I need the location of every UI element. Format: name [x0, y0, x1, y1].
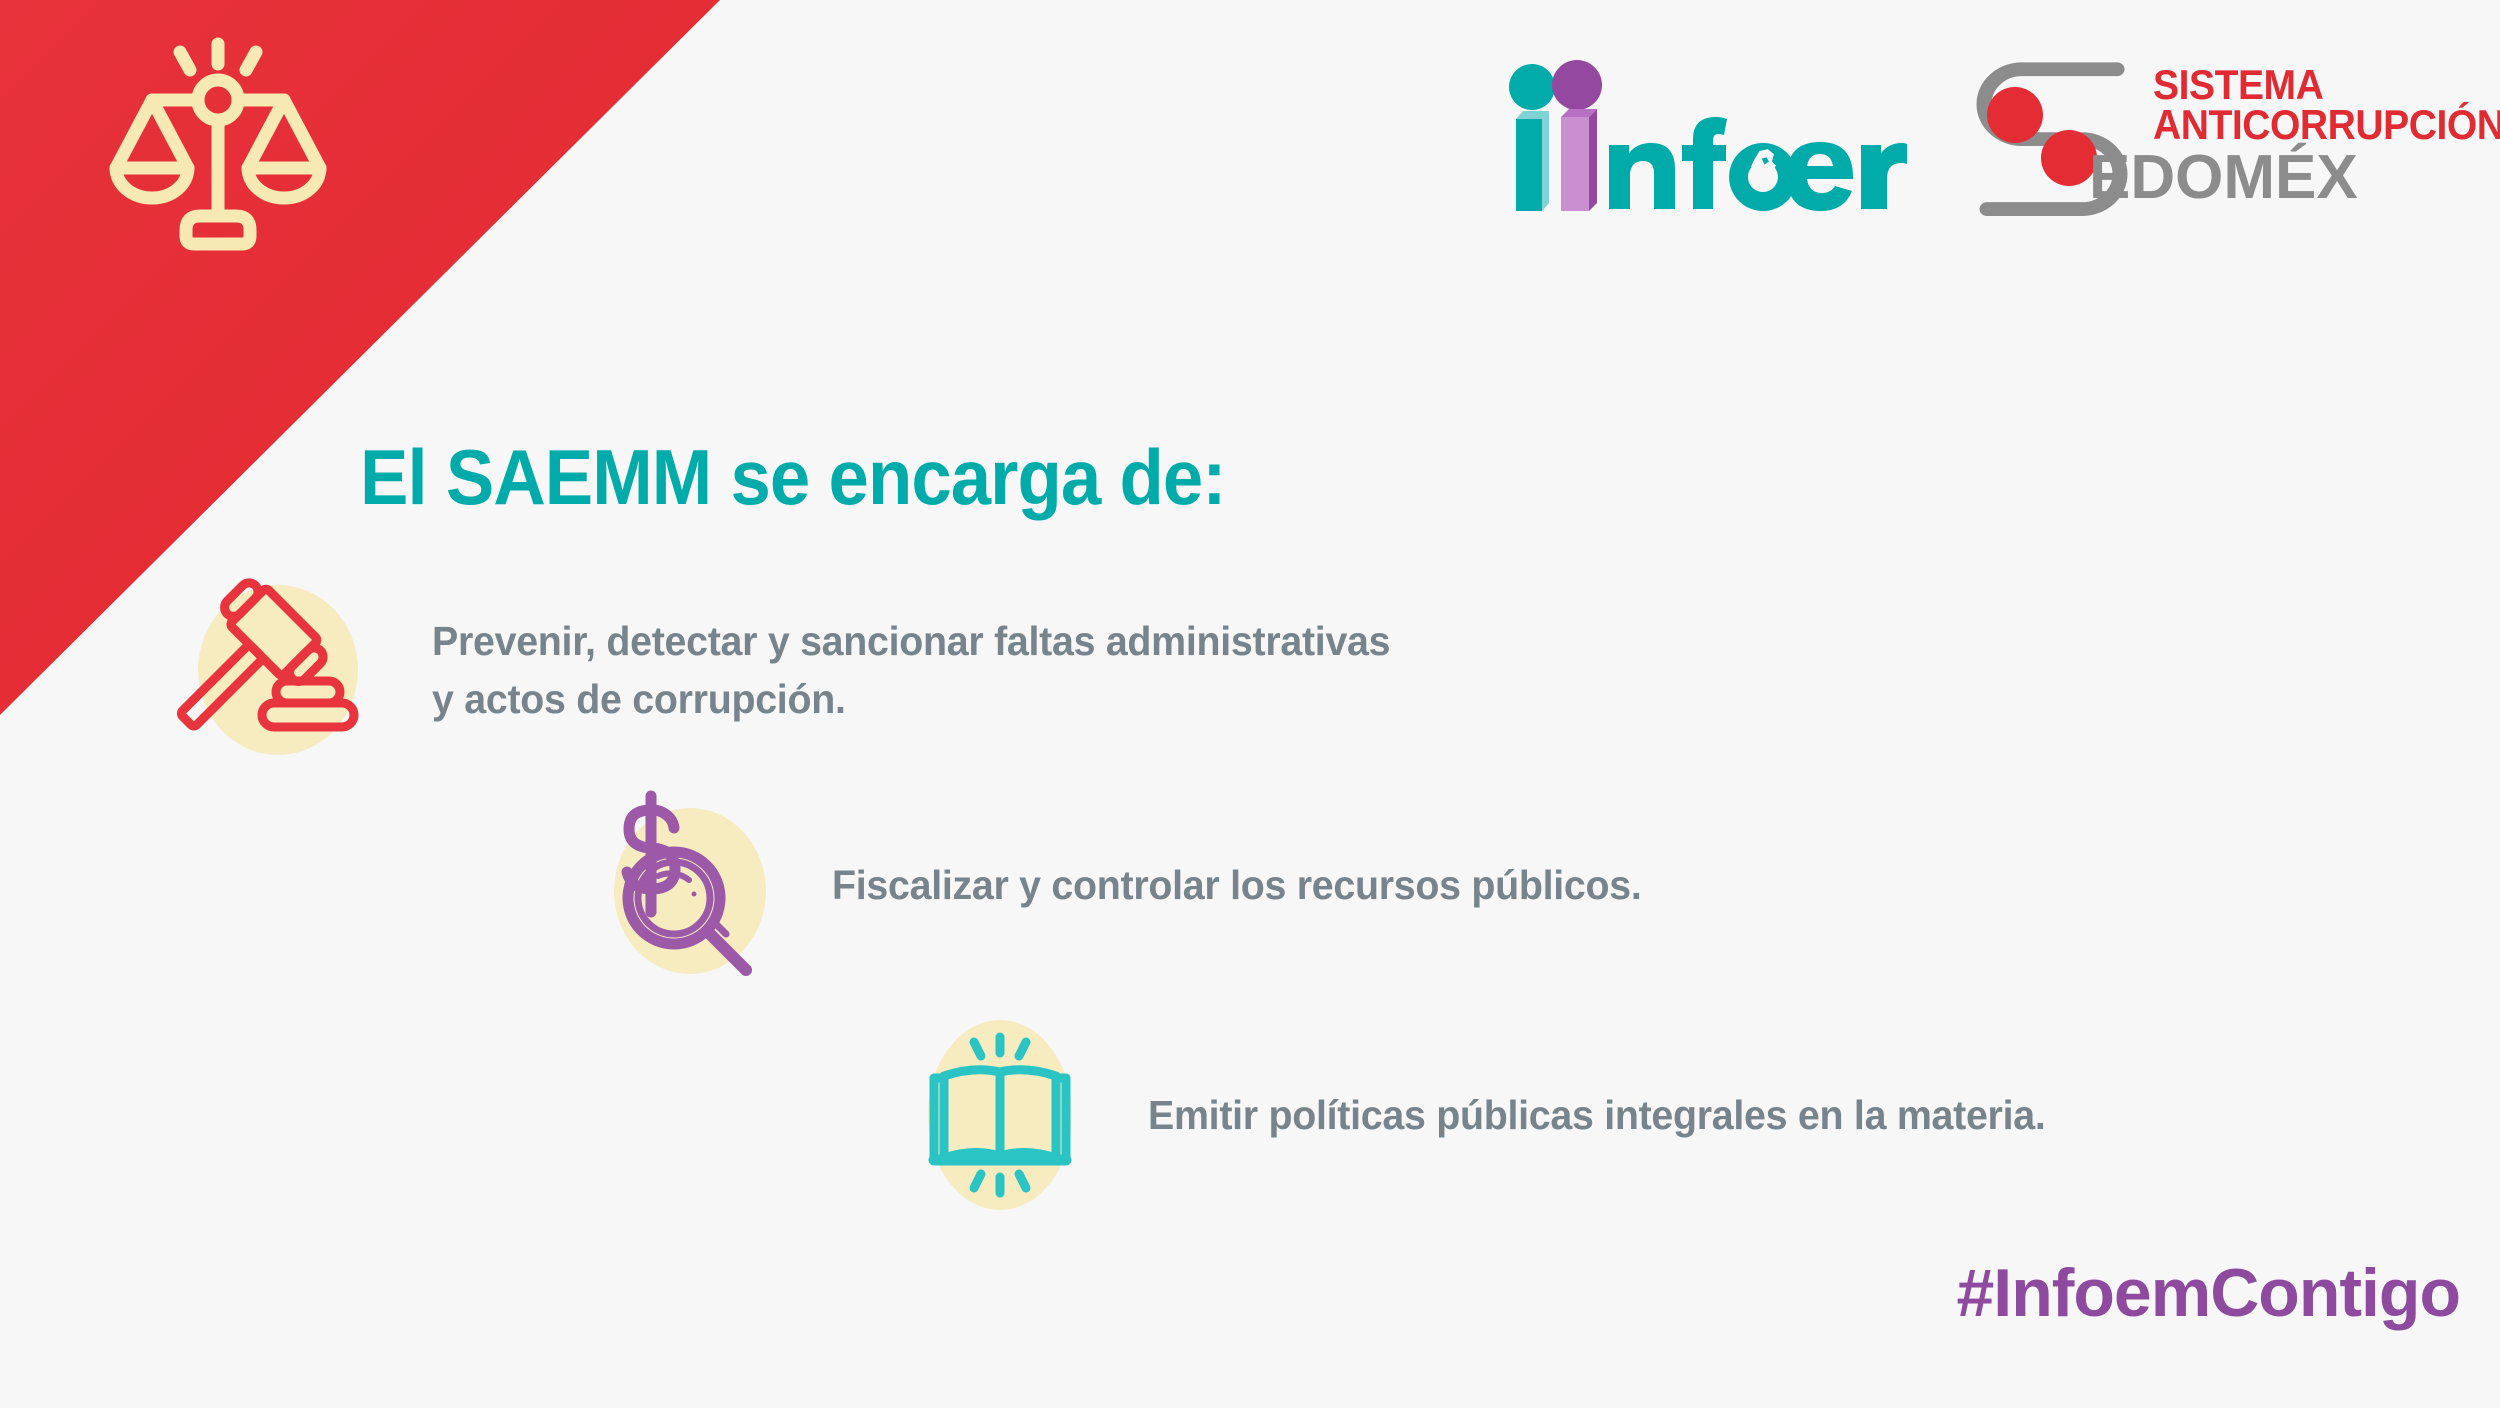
headline-rest: se encarga de: [711, 433, 1225, 521]
logos-row: SISTEMA ANTICORRUPCIÓN EDOMÉX [1497, 52, 2500, 222]
headline-strong: El SAEMM [360, 433, 711, 521]
poster-canvas: SISTEMA ANTICORRUPCIÓN EDOMÉX El SAEMM s… [0, 0, 2500, 1408]
list-item-label: Emitir políticas públicas integrales en … [1148, 1086, 2045, 1144]
list-item-label: Fiscalizar y controlar los recursos públ… [832, 856, 1642, 914]
sistema-anticorrupcion-edomex-logo[interactable]: SISTEMA ANTICORRUPCIÓN EDOMÉX [1947, 52, 2492, 222]
sae-line-sistema: SISTEMA [2153, 65, 2500, 105]
sae-line-edomex: EDOMÉX [2089, 147, 2500, 209]
infoem-logo[interactable] [1497, 57, 1907, 217]
hashtag-label: #InfoemContigo [1956, 1254, 2460, 1332]
scales-of-justice-icon [88, 30, 348, 270]
page-title: El SAEMM se encarga de: [360, 432, 1225, 523]
magnifying-glass-dollar-icon [596, 790, 786, 980]
list-item: Emitir políticas públicas integrales en … [908, 1020, 2083, 1210]
list-item: Prevenir, detectar y sancionar faltas ad… [176, 575, 1430, 765]
sae-wordmark: SISTEMA ANTICORRUPCIÓN EDOMÉX [2153, 65, 2500, 209]
gavel-icon [176, 575, 366, 765]
sae-line-anticorrupcion: ANTICORRUPCIÓN [2153, 105, 2500, 145]
list-item-label: Prevenir, detectar y sancionar faltas ad… [432, 612, 1390, 728]
list-item: Fiscalizar y controlar los recursos públ… [596, 790, 1675, 980]
open-book-icon [908, 1020, 1098, 1210]
